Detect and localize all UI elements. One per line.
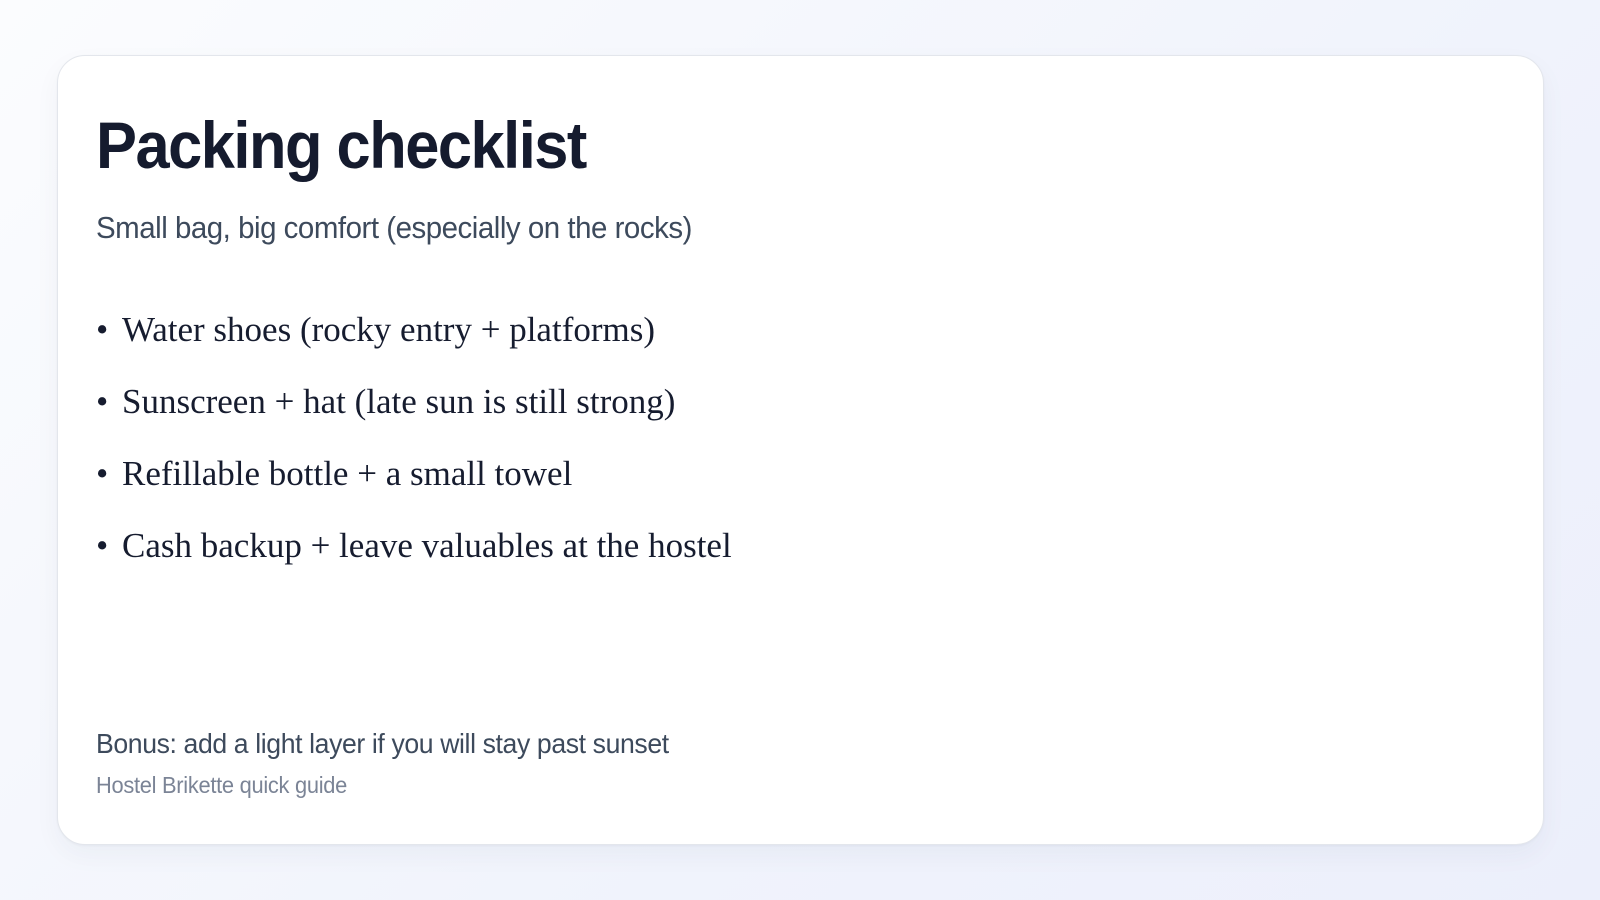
source-caption: Hostel Brikette quick guide	[96, 770, 1435, 800]
list-item-label: Water shoes (rocky entry + platforms)	[122, 310, 655, 349]
list-item-label: Sunscreen + hat (late sun is still stron…	[122, 382, 675, 421]
bullet-icon: •	[96, 438, 122, 510]
bonus-note: Bonus: add a light layer if you will sta…	[96, 726, 1435, 762]
page-subtitle: Small bag, big comfort (especially on th…	[96, 208, 692, 248]
card-footer: Bonus: add a light layer if you will sta…	[96, 726, 1505, 800]
list-item-label: Cash backup + leave valuables at the hos…	[122, 526, 732, 565]
list-item: •Cash backup + leave valuables at the ho…	[96, 510, 732, 582]
list-item: •Sunscreen + hat (late sun is still stro…	[96, 366, 732, 438]
page-title: Packing checklist	[96, 109, 586, 181]
bullet-icon: •	[96, 510, 122, 582]
packing-items-list: •Water shoes (rocky entry + platforms) •…	[96, 294, 732, 582]
packing-checklist-card: Packing checklist Small bag, big comfort…	[57, 55, 1544, 845]
bullet-icon: •	[96, 366, 122, 438]
list-item: •Refillable bottle + a small towel	[96, 438, 732, 510]
list-item: •Water shoes (rocky entry + platforms)	[96, 294, 732, 366]
card-content: Packing checklist Small bag, big comfort…	[96, 56, 1505, 844]
list-item-label: Refillable bottle + a small towel	[122, 454, 572, 493]
page-root: Packing checklist Small bag, big comfort…	[0, 0, 1600, 900]
bullet-icon: •	[96, 294, 122, 366]
